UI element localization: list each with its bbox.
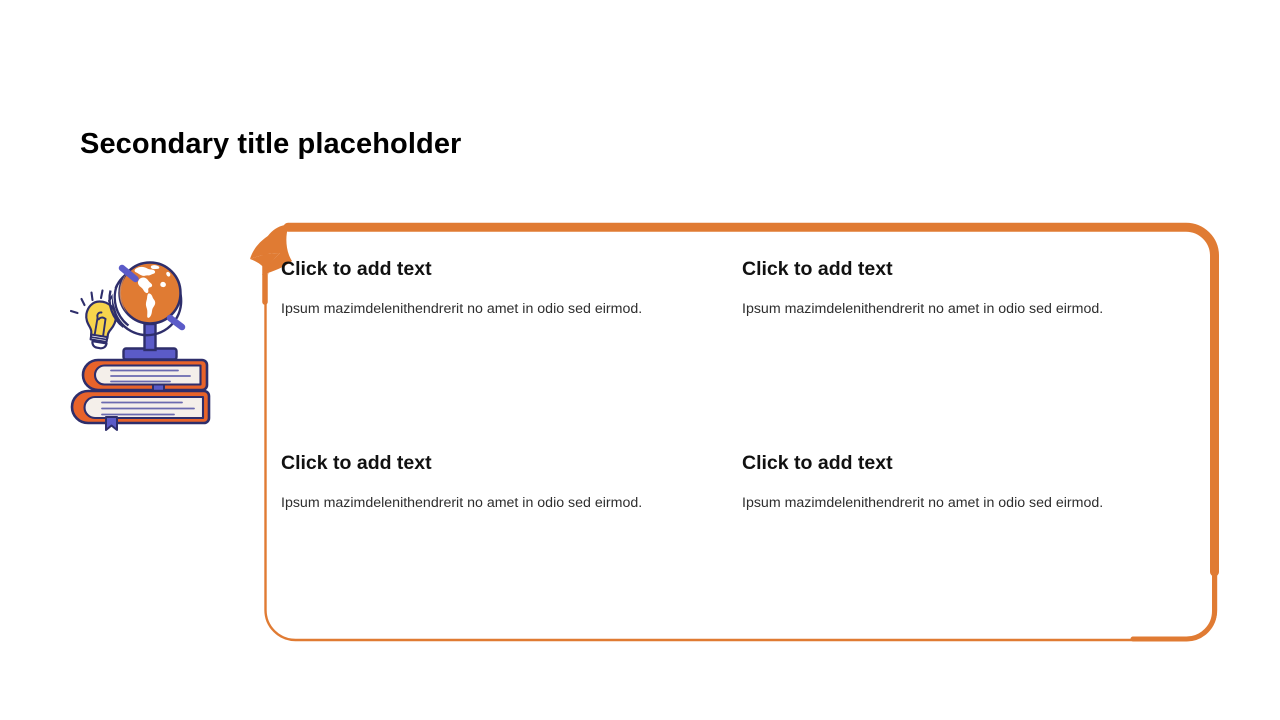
text-block-1[interactable]: Click to add text Ipsum mazimdelenithend… — [281, 258, 742, 452]
block-body[interactable]: Ipsum mazimdelenithendrerit no amet in o… — [281, 281, 742, 319]
slide-canvas: Secondary title placeholder — [0, 0, 1280, 720]
block-heading[interactable]: Click to add text — [742, 258, 1181, 281]
block-heading[interactable]: Click to add text — [281, 258, 742, 281]
block-body[interactable]: Ipsum mazimdelenithendrerit no amet in o… — [742, 475, 1181, 513]
page-title: Secondary title placeholder — [80, 128, 461, 161]
book-stack-icon — [72, 360, 209, 430]
text-block-4[interactable]: Click to add text Ipsum mazimdelenithend… — [742, 452, 1181, 618]
block-body[interactable]: Ipsum mazimdelenithendrerit no amet in o… — [281, 475, 742, 513]
content-grid: Click to add text Ipsum mazimdelenithend… — [281, 258, 1181, 618]
text-block-2[interactable]: Click to add text Ipsum mazimdelenithend… — [742, 258, 1181, 452]
globe-icon — [110, 263, 182, 360]
block-heading[interactable]: Click to add text — [281, 452, 742, 475]
text-block-3[interactable]: Click to add text Ipsum mazimdelenithend… — [281, 452, 742, 618]
block-body[interactable]: Ipsum mazimdelenithendrerit no amet in o… — [742, 281, 1181, 319]
block-heading[interactable]: Click to add text — [742, 452, 1181, 475]
